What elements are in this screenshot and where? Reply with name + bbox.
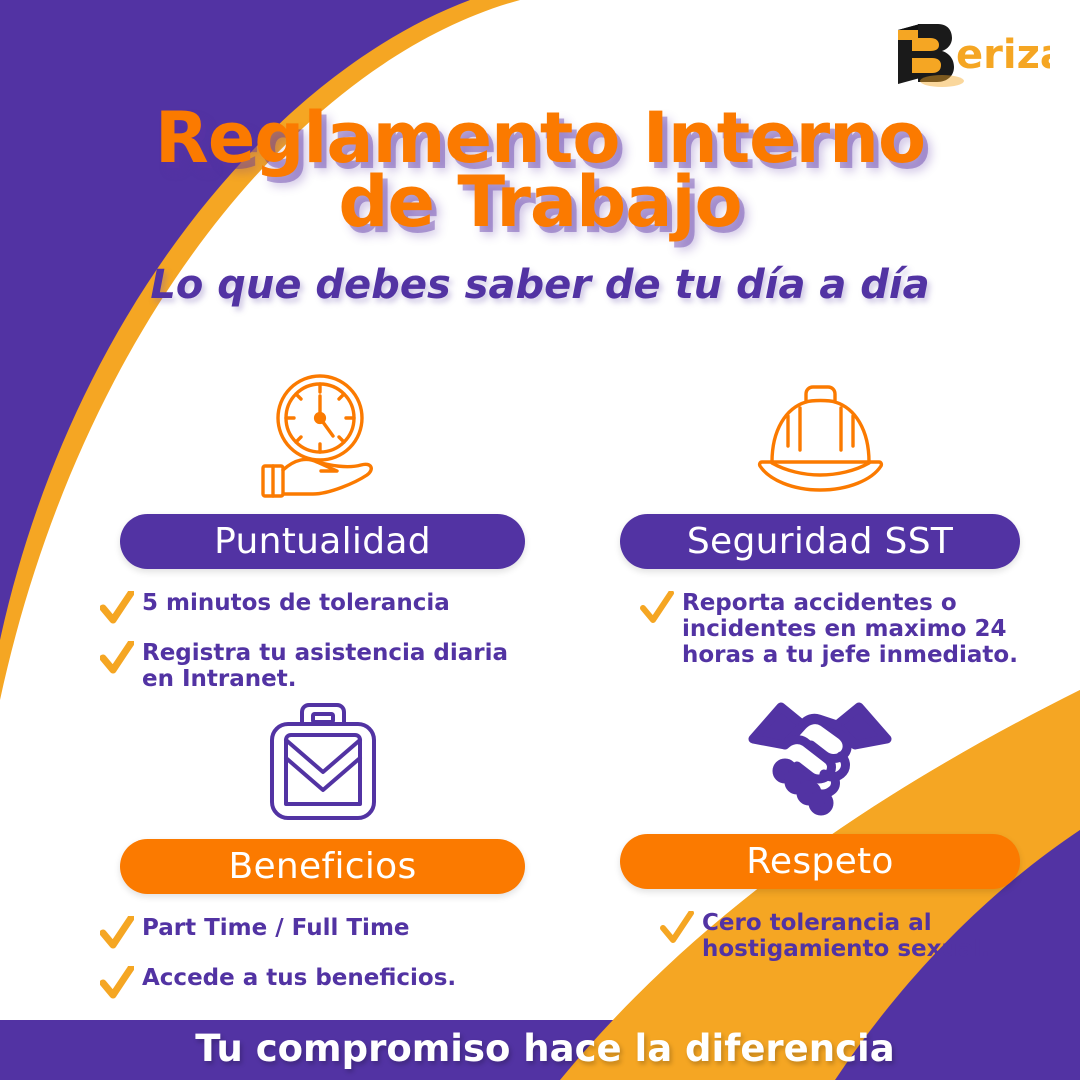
pill-puntualidad[interactable]: Puntualidad xyxy=(120,514,525,569)
check-icon xyxy=(660,911,694,945)
beriza-logo[interactable]: eriza xyxy=(890,18,1050,88)
bullet-list-beneficios: Part Time / Full Time Accede a tus benef… xyxy=(60,914,585,1000)
clock-in-hand-icon xyxy=(255,370,390,500)
list-item-label: Registra tu asistencia diaria en Intrane… xyxy=(142,639,508,692)
icon-container xyxy=(560,685,1080,820)
icon-container xyxy=(60,690,585,825)
footer-tagline: Tu compromiso hace la diferencia xyxy=(0,1027,1080,1070)
logo-b-mark xyxy=(898,24,964,87)
pill-seguridad-sst[interactable]: Seguridad SST xyxy=(620,514,1020,569)
card-respeto: Respeto Cero tolerancia al hostigamiento… xyxy=(560,685,1080,976)
list-item: Reporta accidentes o incidentes en maxim… xyxy=(640,589,1080,669)
list-item: Accede a tus beneficios. xyxy=(100,964,585,1000)
list-item: Cero tolerancia al hostigamiento sexual. xyxy=(660,909,1080,962)
page-title: Reglamento Interno de Trabajo xyxy=(0,106,1080,235)
card-seguridad-sst: Seguridad SST Reporta accidentes o incid… xyxy=(560,355,1080,683)
check-icon xyxy=(100,591,134,625)
list-item-label: Reporta accidentes o incidentes en maxim… xyxy=(682,589,1018,669)
infographic-poster: eriza Reglamento Interno de Trabajo Lo q… xyxy=(0,0,1080,1080)
bullet-list-seguridad: Reporta accidentes o incidentes en maxim… xyxy=(560,589,1080,669)
list-item: Part Time / Full Time xyxy=(100,914,585,950)
bullet-list-puntualidad: 5 minutos de tolerancia Registra tu asis… xyxy=(60,589,585,692)
bullet-list-respeto: Cero tolerancia al hostigamiento sexual. xyxy=(560,909,1080,962)
pill-beneficios[interactable]: Beneficios xyxy=(120,839,525,894)
check-icon xyxy=(100,966,134,1000)
pill-respeto[interactable]: Respeto xyxy=(620,834,1020,889)
hard-hat-icon xyxy=(748,380,893,500)
icon-container xyxy=(60,360,585,500)
list-item-label: 5 minutos de tolerancia xyxy=(142,589,450,616)
card-beneficios: Beneficios Part Time / Full Time Accede … xyxy=(60,690,585,1014)
icon-container xyxy=(560,355,1080,500)
page-subtitle: Lo que debes saber de tu día a día xyxy=(0,262,1080,308)
card-puntualidad: Puntualidad 5 minutos de tolerancia Regi… xyxy=(60,360,585,706)
list-item: Registra tu asistencia diaria en Intrane… xyxy=(100,639,585,692)
check-icon xyxy=(100,641,134,675)
check-icon xyxy=(640,591,674,625)
briefcase-icon xyxy=(258,700,388,825)
list-item-label: Part Time / Full Time xyxy=(142,914,410,941)
list-item: 5 minutos de tolerancia xyxy=(100,589,585,625)
list-item-label: Accede a tus beneficios. xyxy=(142,964,456,991)
logo-wordmark: eriza xyxy=(956,32,1050,78)
handshake-icon xyxy=(745,695,895,820)
check-icon xyxy=(100,916,134,950)
list-item-label: Cero tolerancia al hostigamiento sexual. xyxy=(702,909,990,962)
